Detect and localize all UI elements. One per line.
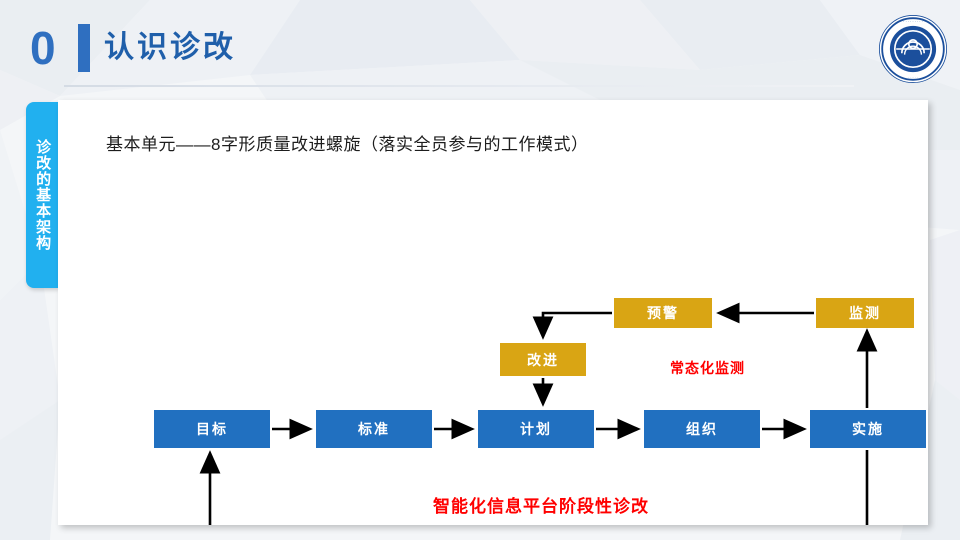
header-accent-bar xyxy=(78,24,90,72)
page-title: 认识诊改 xyxy=(104,26,236,70)
node-shishi[interactable]: 实施 xyxy=(810,410,926,448)
flow-edges xyxy=(58,100,928,525)
node-gaijin-top[interactable]: 改进 xyxy=(500,343,586,376)
svg-text:· · · · · · · · ·: · · · · · · · · · xyxy=(903,19,923,23)
node-mubiao[interactable]: 目标 xyxy=(154,410,270,448)
annotation-normalized-monitoring: 常态化监测 xyxy=(670,358,745,378)
node-biaozhun[interactable]: 标准 xyxy=(316,410,432,448)
slide-canvas: 0 认识诊改 · · · · · · · · · · · · · · · 诊改的… xyxy=(0,0,960,540)
slide-header: 0 认识诊改 · · · · · · · · · · · · · · · xyxy=(0,0,960,96)
node-jihua[interactable]: 计划 xyxy=(478,410,594,448)
annotation-smart-platform: 智能化信息平台阶段性诊改 xyxy=(433,492,649,517)
sidebar-section-tab-label: 诊改的基本架构 xyxy=(32,139,52,251)
svg-text:· · · · · ·: · · · · · · xyxy=(908,75,918,79)
content-card: 基本单元——8字形质量改进螺旋（落实全员参与的工作模式） xyxy=(58,100,928,525)
node-zuzhi[interactable]: 组织 xyxy=(644,410,760,448)
node-yujing[interactable]: 预警 xyxy=(614,298,712,328)
sidebar-section-tab[interactable]: 诊改的基本架构 xyxy=(26,102,58,288)
node-jiance[interactable]: 监测 xyxy=(816,298,914,328)
header-divider xyxy=(64,85,854,87)
flow-diagram: 预警 监测 改进 目标 标准 计划 组织 实施 诊断 激励 学习 创新 改进 常… xyxy=(58,100,928,525)
school-emblem-icon: · · · · · · · · · · · · · · · xyxy=(878,14,948,84)
header-number: 0 xyxy=(30,22,57,74)
